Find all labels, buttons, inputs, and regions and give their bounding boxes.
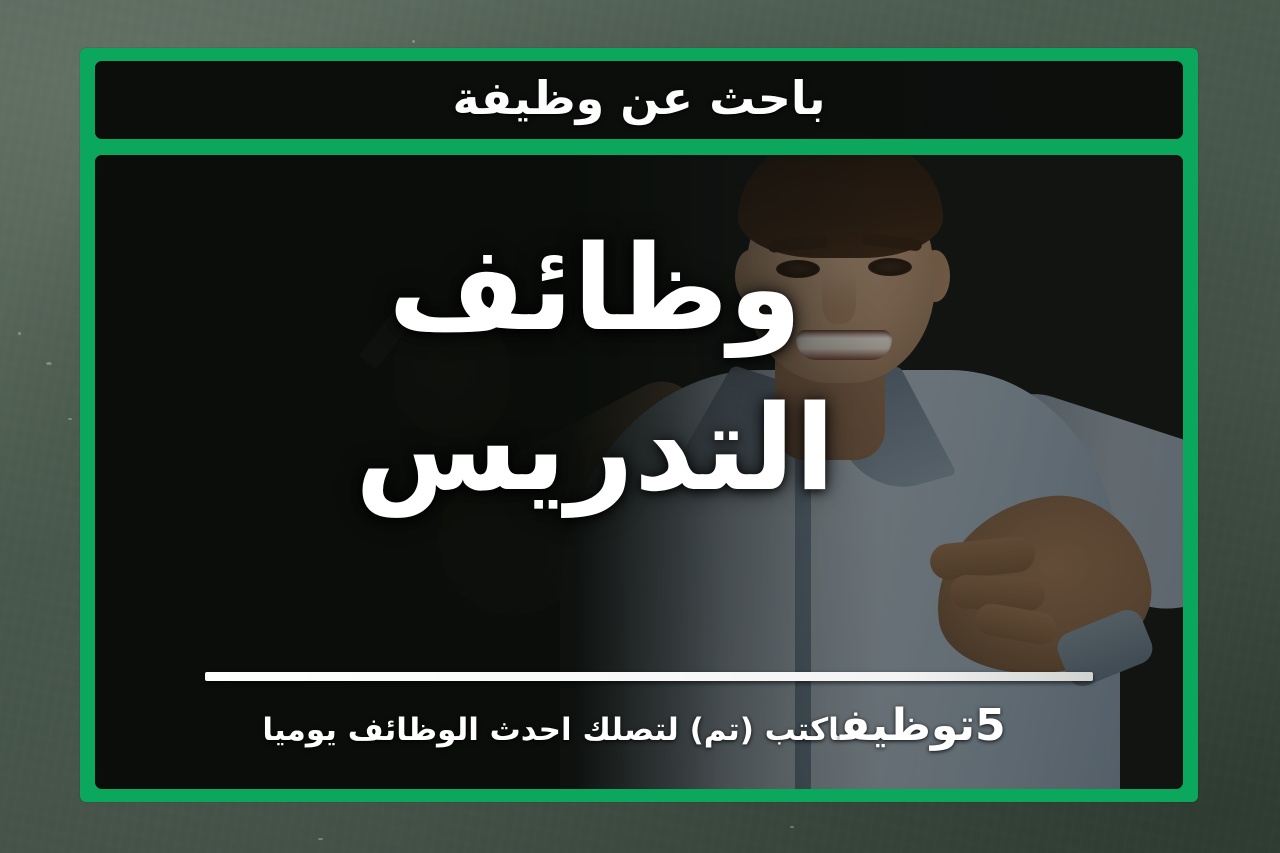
footer-tagline: اكتب (تم) لتصلك احدث الوظائف يوميا — [262, 712, 839, 748]
chalk-speck — [412, 40, 415, 43]
brand-name: 5توظيف — [840, 700, 1006, 751]
main-panel — [95, 155, 1183, 789]
header-title: باحث عن وظيفة — [95, 61, 1183, 139]
chalk-speck — [68, 418, 72, 420]
main-photo-darkening — [95, 155, 1183, 789]
main-photo-clip — [95, 155, 1183, 789]
poster-canvas: باحث عن وظيفة — [0, 0, 1280, 853]
chalk-speck — [790, 826, 794, 828]
chalk-speck — [18, 332, 21, 335]
chalk-speck — [318, 838, 323, 840]
header-panel: باحث عن وظيفة — [95, 61, 1183, 139]
chalk-speck — [46, 362, 52, 365]
white-divider-rule — [205, 672, 1093, 681]
footer-bar: 5توظيفاكتب (تم) لتصلك احدث الوظائف يوميا — [150, 700, 1100, 751]
